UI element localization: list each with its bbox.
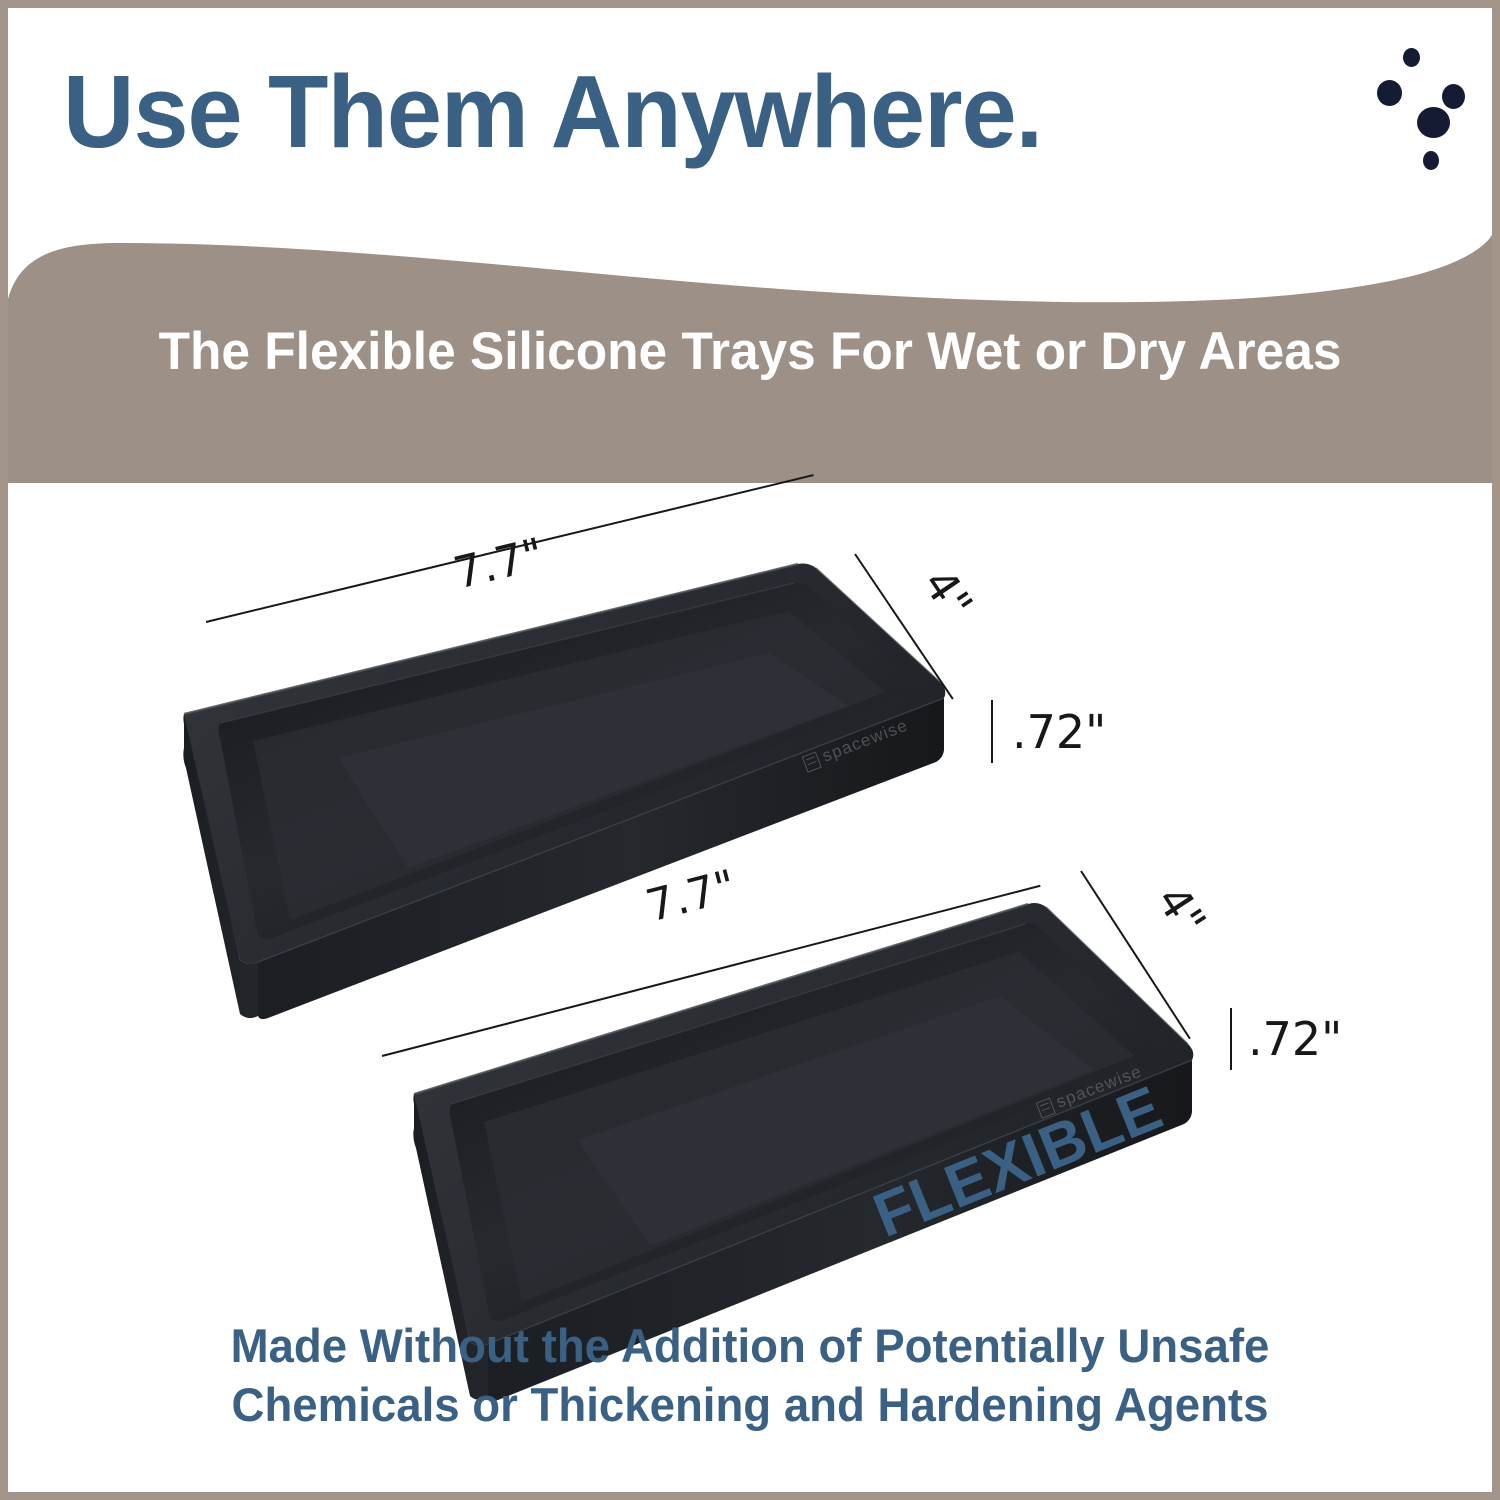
dim-leader-height-upper xyxy=(991,700,993,763)
dot-small-top-icon xyxy=(1403,48,1420,67)
page-title: Use Them Anywhere. xyxy=(63,60,1042,163)
banner-subtitle: The Flexible Silicone Trays For Wet or D… xyxy=(23,321,1478,382)
dot-medium-right-icon xyxy=(1442,84,1465,109)
dim-label-height-upper: .72" xyxy=(1012,705,1106,759)
infographic-canvas: Use Them Anywhere. The Flexible Silicone… xyxy=(0,0,1500,1500)
dot-large-center-icon xyxy=(1417,107,1450,138)
dim-leader-height-lower xyxy=(1230,1008,1232,1070)
footer-line-2: Chemicals or Thickening and Hardening Ag… xyxy=(30,1376,1469,1434)
footer-line-1: Made Without the Addition of Potentially… xyxy=(30,1317,1469,1375)
dim-label-height-lower: .72" xyxy=(1248,1012,1342,1066)
dot-small-bottom-icon xyxy=(1423,151,1439,170)
dot-medium-left-icon xyxy=(1377,80,1402,106)
tray-lower: spacewise xyxy=(238,768,1248,1388)
footer-tagline: Made Without the Addition of Potentially… xyxy=(30,1317,1469,1434)
